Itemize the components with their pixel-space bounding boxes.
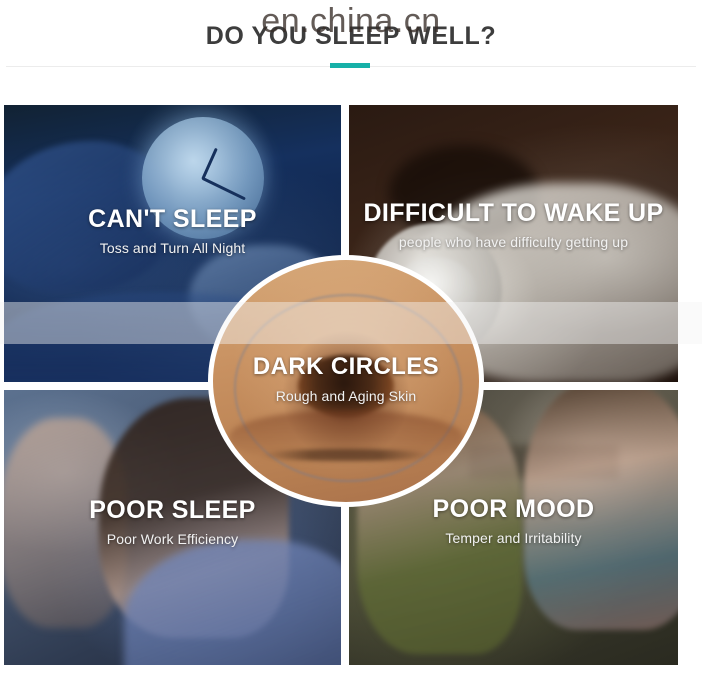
panel-caption: POOR MOOD Temper and Irritability	[349, 495, 678, 548]
panel-caption: POOR SLEEP Poor Work Efficiency	[4, 496, 341, 549]
panel-title: POOR SLEEP	[4, 496, 341, 524]
panel-caption: DIFFICULT TO WAKE UP people who have dif…	[349, 199, 678, 252]
panel-dark-circles[interactable]: DARK CIRCLES Rough and Aging Skin	[208, 255, 484, 507]
panel-subtitle: Rough and Aging Skin	[213, 388, 479, 406]
title-accent-bar	[330, 63, 370, 68]
panel-subtitle: Temper and Irritability	[349, 530, 678, 548]
panel-title: DIFFICULT TO WAKE UP	[349, 199, 678, 227]
panel-title: POOR MOOD	[349, 495, 678, 523]
panel-subtitle: Toss and Turn All Night	[4, 240, 341, 258]
panel-subtitle: people who have difficulty getting up	[349, 234, 678, 252]
panel-caption: DARK CIRCLES Rough and Aging Skin	[213, 354, 479, 405]
panel-caption: CAN'T SLEEP Toss and Turn All Night	[4, 205, 341, 258]
watermark-text: en.china.cn	[0, 0, 702, 42]
panel-title: CAN'T SLEEP	[4, 205, 341, 233]
panel-title: DARK CIRCLES	[213, 354, 479, 381]
eyelash-shape	[261, 449, 431, 461]
panel-subtitle: Poor Work Efficiency	[4, 531, 341, 549]
